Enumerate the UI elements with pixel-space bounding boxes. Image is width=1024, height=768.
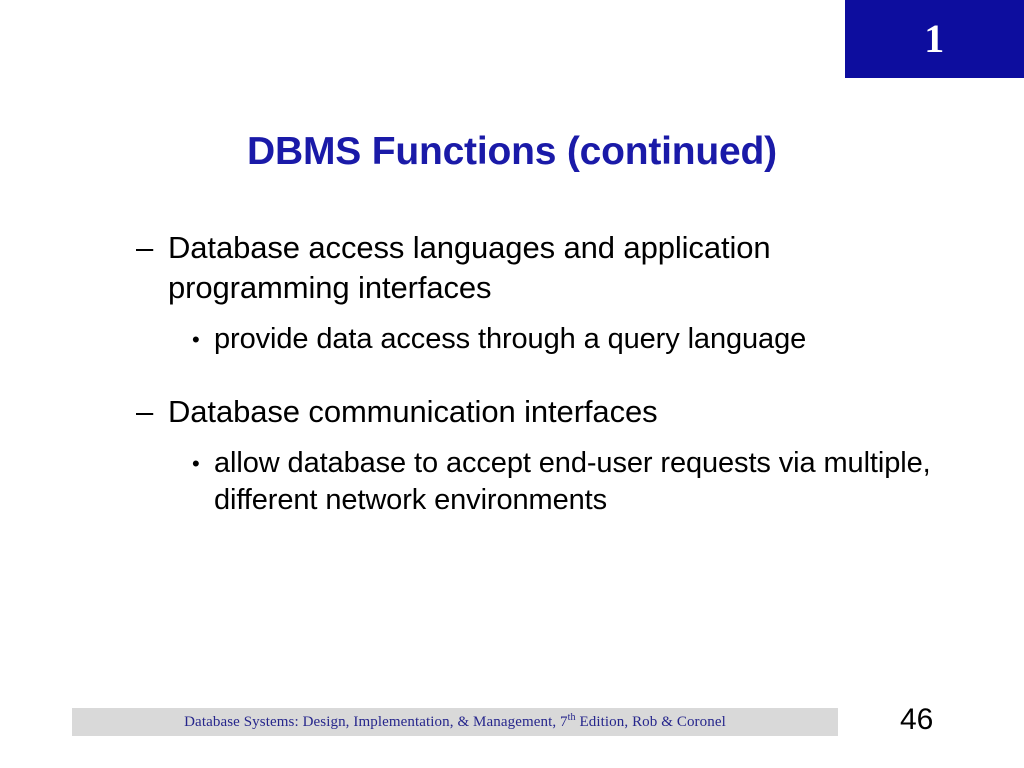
bullet-level2-text: allow database to accept end-user reques…: [214, 445, 954, 520]
page-number: 46: [900, 703, 960, 737]
bullet-level1-text: Database communication interfaces: [168, 392, 903, 432]
bullet-level1: – Database access languages and applicat…: [136, 228, 966, 309]
footer-band: Database Systems: Design, Implementation…: [72, 708, 838, 736]
bullet-level2-text: provide data access through a query lang…: [214, 321, 954, 359]
bullet-level1-text: Database access languages and applicatio…: [168, 228, 903, 309]
dash-bullet-icon: –: [136, 392, 168, 432]
dash-bullet-icon: –: [136, 228, 168, 268]
dot-bullet-icon: •: [192, 321, 214, 359]
chapter-number-badge: 1: [845, 0, 1024, 78]
bullet-level2: • provide data access through a query la…: [192, 321, 966, 359]
footer-citation-part1: Database Systems: Design, Implementation…: [184, 714, 568, 730]
footer-citation-superscript: th: [568, 712, 576, 723]
footer-citation: Database Systems: Design, Implementation…: [184, 714, 726, 731]
footer-citation-part2: Edition, Rob & Coronel: [576, 714, 726, 730]
bullet-group: – Database communication interfaces • al…: [136, 392, 966, 520]
chapter-number-text: 1: [924, 19, 945, 59]
bullet-level2: • allow database to accept end-user requ…: [192, 445, 966, 520]
bullet-level1: – Database communication interfaces: [136, 392, 966, 432]
dot-bullet-icon: •: [192, 445, 214, 483]
slide-title: DBMS Functions (continued): [0, 130, 1024, 174]
bullet-group: – Database access languages and applicat…: [136, 228, 966, 358]
slide-canvas: { "slide": { "badge_number": "1", "badge…: [0, 0, 1024, 768]
slide-body: – Database access languages and applicat…: [136, 228, 966, 520]
